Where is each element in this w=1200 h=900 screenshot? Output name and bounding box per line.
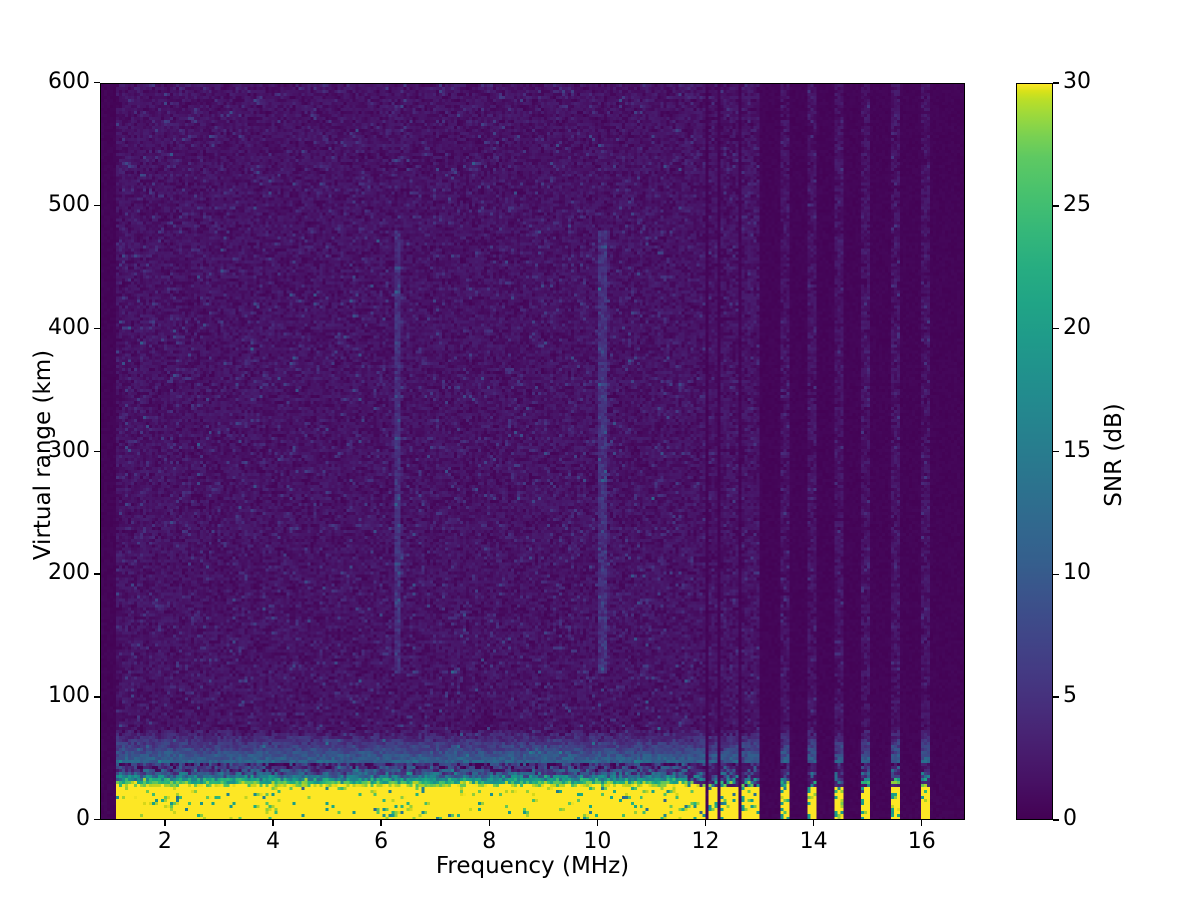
colorbar[interactable] xyxy=(1016,83,1053,820)
y-tick-mark xyxy=(94,328,100,329)
x-tick-mark xyxy=(705,820,706,826)
ionogram-plot-area[interactable] xyxy=(100,83,965,820)
x-tick-label: 16 xyxy=(882,829,962,855)
colorbar-tick-mark xyxy=(1053,574,1059,575)
y-tick-mark xyxy=(94,696,100,697)
ionogram-figure: IRF Kiruna Ionosonde KI167 2026-03-24 07… xyxy=(0,0,1200,900)
x-tick-mark xyxy=(597,820,598,826)
ionogram-heatmap-canvas xyxy=(101,84,964,819)
y-tick-label: 100 xyxy=(0,683,90,709)
colorbar-tick-mark xyxy=(1053,696,1059,697)
x-tick-mark xyxy=(272,820,273,826)
colorbar-tick-mark xyxy=(1053,819,1059,820)
x-tick-label: 2 xyxy=(125,829,205,855)
x-tick-mark xyxy=(164,820,165,826)
x-tick-mark xyxy=(380,820,381,826)
x-tick-label: 8 xyxy=(449,829,529,855)
colorbar-tick-label: 15 xyxy=(1063,438,1091,464)
colorbar-label: SNR (dB) xyxy=(1101,315,1127,595)
colorbar-tick-label: 30 xyxy=(1063,69,1091,95)
y-tick-mark xyxy=(94,573,100,574)
y-tick-label: 500 xyxy=(0,192,90,218)
x-tick-label: 6 xyxy=(341,829,421,855)
y-tick-mark xyxy=(94,819,100,820)
x-tick-label: 14 xyxy=(774,829,854,855)
x-tick-mark xyxy=(813,820,814,826)
y-tick-label: 600 xyxy=(0,69,90,95)
colorbar-tick-label: 0 xyxy=(1063,806,1077,832)
colorbar-tick-mark xyxy=(1053,451,1059,452)
y-tick-mark xyxy=(94,82,100,83)
x-tick-label: 4 xyxy=(233,829,313,855)
y-tick-label: 0 xyxy=(0,806,90,832)
y-tick-mark xyxy=(94,451,100,452)
y-axis-label: Virtual range (km) xyxy=(30,315,56,595)
colorbar-tick-label: 10 xyxy=(1063,560,1091,586)
y-tick-mark xyxy=(94,205,100,206)
x-tick-label: 12 xyxy=(666,829,746,855)
x-tick-mark xyxy=(921,820,922,826)
x-axis-label: Frequency (MHz) xyxy=(100,853,965,879)
colorbar-tick-mark xyxy=(1053,205,1059,206)
colorbar-tick-mark xyxy=(1053,328,1059,329)
colorbar-tick-mark xyxy=(1053,82,1059,83)
x-tick-mark xyxy=(489,820,490,826)
colorbar-tick-label: 5 xyxy=(1063,683,1077,709)
colorbar-tick-label: 25 xyxy=(1063,192,1091,218)
colorbar-tick-label: 20 xyxy=(1063,315,1091,341)
x-tick-label: 10 xyxy=(557,829,637,855)
